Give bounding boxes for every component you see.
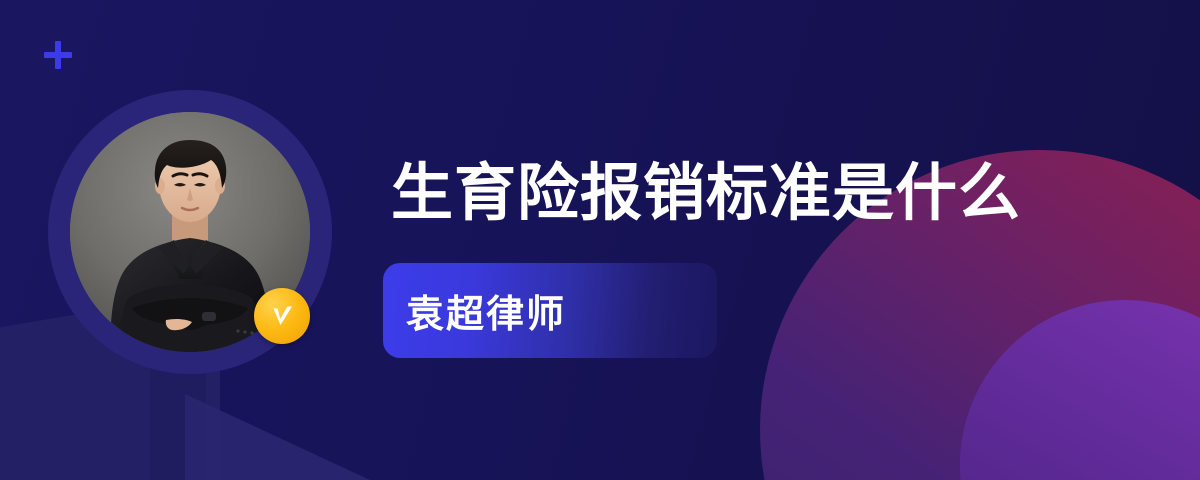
- promo-banner: 生育险报销标准是什么 袁超律师: [0, 0, 1200, 480]
- lawyer-name-chip[interactable]: 袁超律师: [383, 263, 717, 358]
- verified-check-icon: [254, 288, 310, 344]
- avatar[interactable]: [48, 90, 332, 374]
- page-title: 生育险报销标准是什么: [391, 163, 1021, 225]
- plus-icon: [44, 41, 72, 69]
- lawyer-name-label: 袁超律师: [406, 283, 566, 338]
